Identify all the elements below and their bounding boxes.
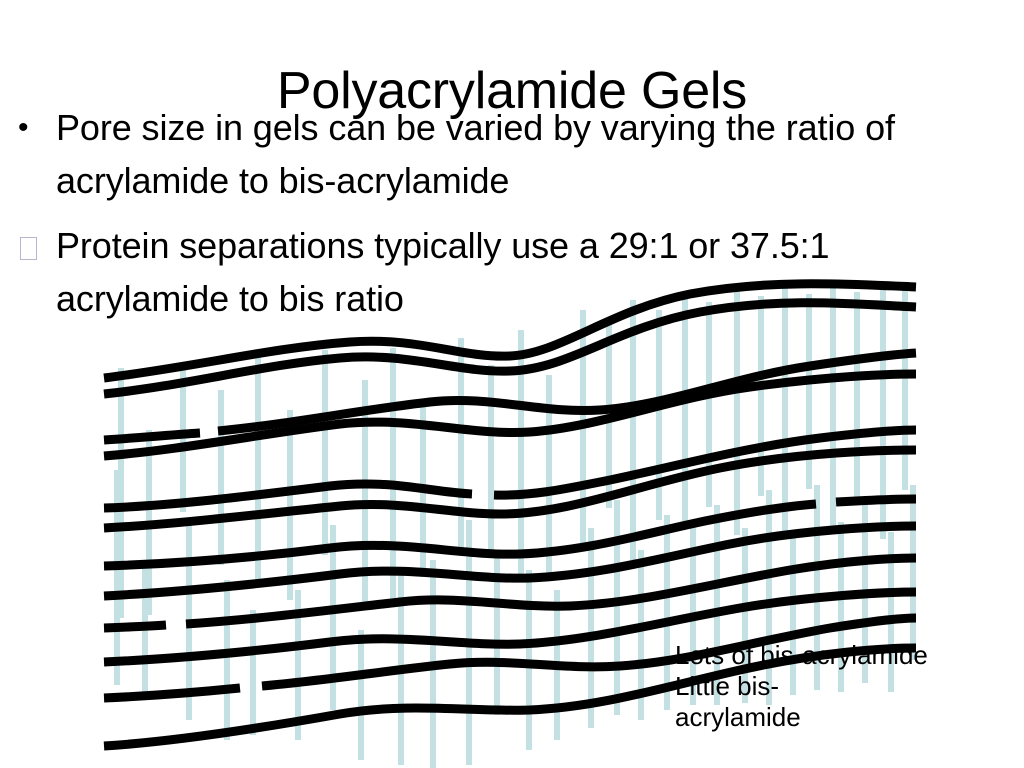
hollow-box-bullet-icon <box>14 219 52 272</box>
bullet-item-pore-size: • Pore size in gels can be varied by var… <box>8 101 1008 207</box>
slide-canvas: Polyacrylamide Gels • Pore size in gels … <box>0 0 1024 768</box>
disc-bullet-icon: • <box>14 101 50 154</box>
label-little-bis-acrylamide: Little bis- acrylamide <box>675 671 855 733</box>
bullet-item-label: Pore size in gels can be varied by varyi… <box>56 101 986 207</box>
label-lots-of-bis-acrylamide: Lots of bis-acrylamide <box>675 640 928 671</box>
